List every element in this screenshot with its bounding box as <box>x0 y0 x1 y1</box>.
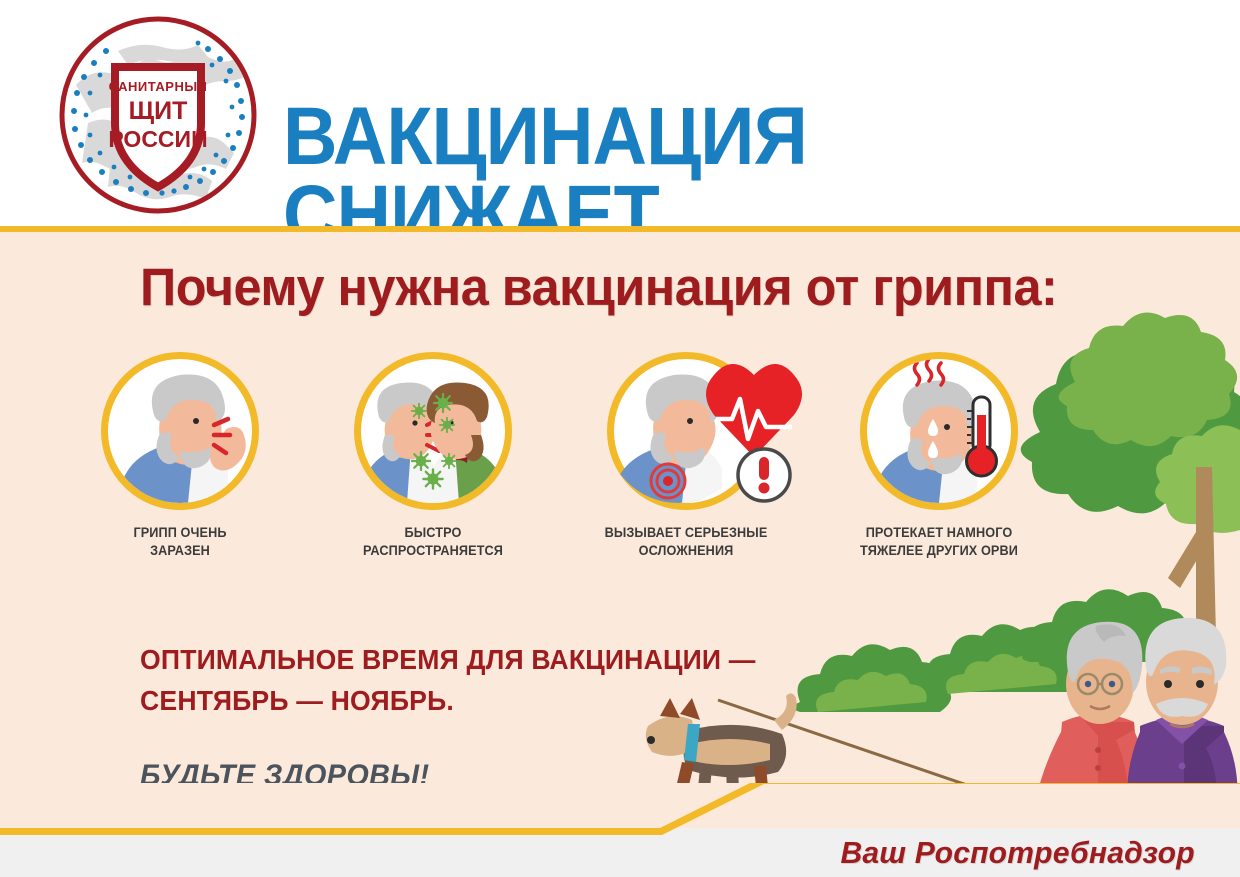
heart-ecg-warning-icon <box>607 352 765 510</box>
logo-line1: САНИТАРНЫЙ <box>109 79 208 94</box>
section-subtitle: Почему нужна вакцинация от гриппа: <box>140 257 1057 318</box>
exclamation-warning-icon <box>738 449 790 501</box>
coughing-elderly-person-icon <box>101 352 259 510</box>
sanitary-shield-of-russia-emblem: САНИТАРНЫЙ ЩИТ РОССИИ <box>58 15 258 215</box>
poster-root: САНИТАРНЫЙ ЩИТ РОССИИ ВАКЦИНАЦИЯ СНИЖАЕТ… <box>0 0 1240 877</box>
reason-item-2: БЫСТРО РАСПРОСТРАНЯЕТСЯ <box>313 352 553 560</box>
logo: САНИТАРНЫЙ ЩИТ РОССИИ <box>58 15 258 215</box>
heart-ecg-icon <box>706 364 802 457</box>
page-title: ВАКЦИНАЦИЯ СНИЖАЕТ РИСК ОСЛОЖНЕНИЙ <box>283 19 1139 209</box>
footer-brand-text: Ваш Роспотребнадзор <box>840 835 1194 871</box>
pain-point-icon <box>651 464 685 498</box>
bush-group <box>793 589 1194 712</box>
reason-item-1: ГРИПП ОЧЕНЬ ЗАРАЗЕН <box>60 352 300 560</box>
reason-caption-2: БЫСТРО РАСПРОСТРАНЯЕТСЯ <box>320 524 546 560</box>
poster-body: Почему нужна вакцинация от гриппа: <box>0 232 1240 828</box>
optimal-time-text: ОПТИМАЛЬНОЕ ВРЕМЯ ДЛЯ ВАКЦИНАЦИИ — СЕНТЯ… <box>140 640 756 721</box>
virus-transmission-between-people-icon <box>354 352 512 510</box>
logo-line2: ЩИТ <box>129 97 188 125</box>
poster-footer: Ваш Роспотребнадзор <box>0 828 1240 877</box>
optimal-line-2: СЕНТЯБРЬ — НОЯБРЬ. <box>140 685 454 716</box>
reasons-row: ГРИПП ОЧЕНЬ ЗАРАЗЕН <box>60 352 1060 572</box>
poster-header: САНИТАРНЫЙ ЩИТ РОССИИ ВАКЦИНАЦИЯ СНИЖАЕТ… <box>0 0 1240 228</box>
reason-item-4: ПРОТЕКАЕТ НАМНОГО ТЯЖЕЛЕЕ ДРУГИХ ОРВИ <box>819 352 1059 560</box>
optimal-line-1: ОПТИМАЛЬНОЕ ВРЕМЯ ДЛЯ ВАКЦИНАЦИИ — <box>140 644 756 675</box>
fever-thermometer-icon <box>860 352 1018 510</box>
reason-caption-1: ГРИПП ОЧЕНЬ ЗАРАЗЕН <box>67 524 293 560</box>
reason-caption-4: ПРОТЕКАЕТ НАМНОГО ТЯЖЕЛЕЕ ДРУГИХ ОРВИ <box>826 524 1052 560</box>
logo-line3: РОССИИ <box>108 126 207 152</box>
reason-item-3: ВЫЗЫВАЕТ СЕРЬЕЗНЫЕ ОСЛОЖНЕНИЯ <box>566 352 806 560</box>
reason-caption-3: ВЫЗЫВАЕТ СЕРЬЕЗНЫЕ ОСЛОЖНЕНИЯ <box>573 524 799 560</box>
